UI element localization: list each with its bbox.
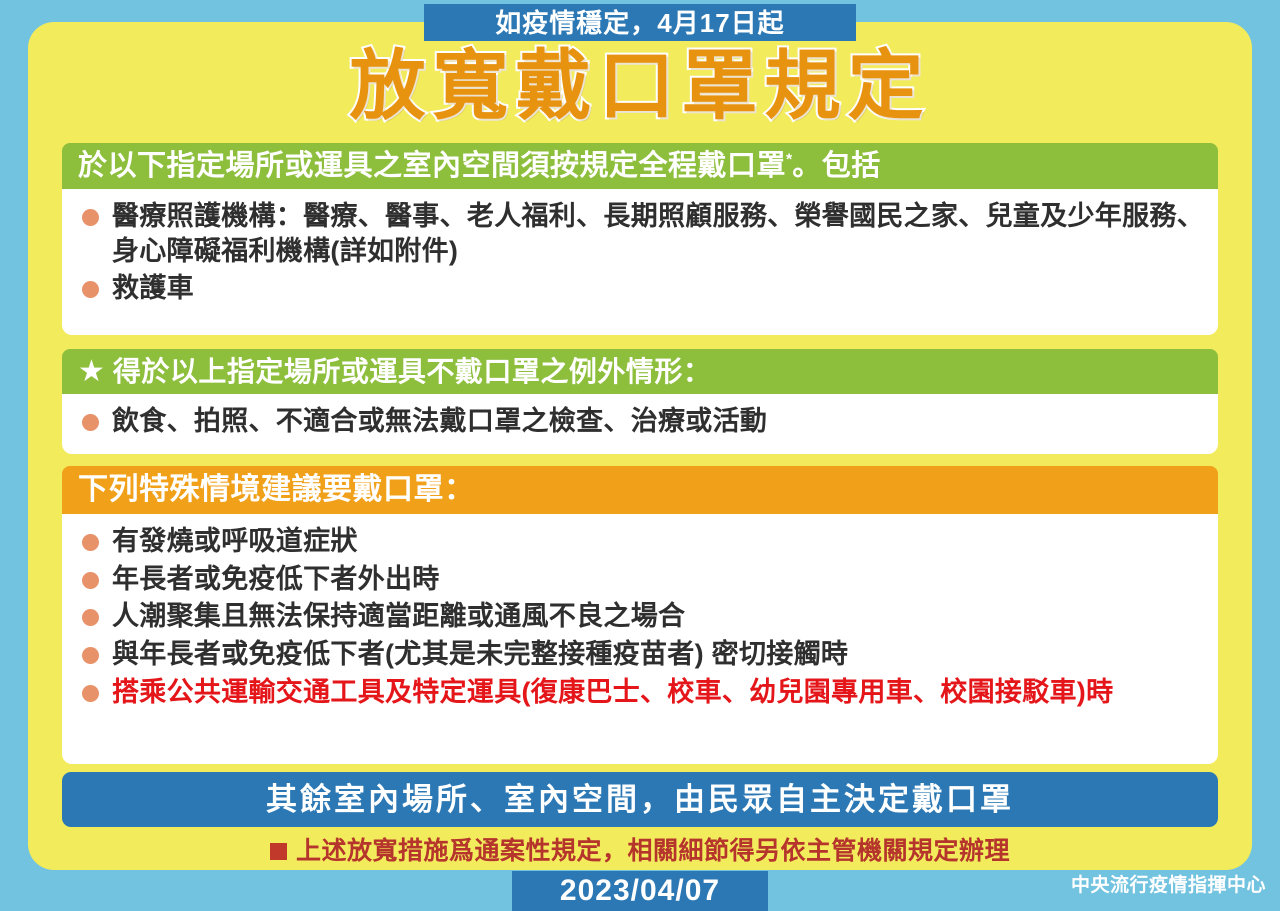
list-item: 救護車 <box>78 271 1204 306</box>
date-label: 2023/04/07 <box>560 876 720 906</box>
bullet-dot-icon <box>82 534 99 551</box>
section-panel-exceptions: 飲食、拍照、不適合或無法戴口罩之檢查、治療或活動 <box>62 394 1218 454</box>
bullet-dot-icon <box>82 647 99 664</box>
organization-credit: 中央流行疫情指揮中心 <box>1071 876 1266 895</box>
list-item-highlighted: 搭乘公共運輸交通工具及特定運具(復康巴士、校車、幼兒園專用車、校園接駁車)時 <box>78 675 1204 711</box>
list-item: 與年長者或免疫低下者(尤其是未完整接種疫苗者) 密切接觸時 <box>78 637 1204 673</box>
list-item: 飲食、拍照、不適合或無法戴口罩之檢查、治療或活動 <box>78 404 1204 439</box>
bullet-list-recommended-situations: 有發燒或呼吸道症狀 年長者或免疫低下者外出時 人潮聚集且無法保持適當距離或通風不… <box>78 524 1204 710</box>
top-ribbon-banner: 如疫情穩定，4月17日起 <box>424 4 856 41</box>
list-item: 醫療照護機構：醫療、醫事、老人福利、長期照顧服務、榮譽國民之家、兒童及少年服務、… <box>78 199 1204 269</box>
page-title: 放寬戴口罩規定 <box>0 44 1280 129</box>
conclusion-label: 其餘室內場所、室內空間，由民眾自主決定戴口罩 <box>266 784 1014 815</box>
square-bullet-icon <box>270 843 287 860</box>
ribbon-label: 如疫情穩定，4月17日起 <box>495 10 784 36</box>
section-header-indoor-mask-required: 於以下指定場所或運具之室內空間須按規定全程戴口罩*。包括 <box>62 143 1218 189</box>
section-header-label: 於以下指定場所或運具之室內空間須按規定全程戴口罩*。包括 <box>78 152 881 181</box>
bullet-dot-icon <box>82 414 99 431</box>
footnote: 上述放寬措施爲通案性規定，相關細節得另依主管機關規定辦理 <box>62 834 1218 868</box>
bullet-dot-icon <box>82 609 99 626</box>
bullet-dot-icon <box>82 281 99 298</box>
list-item-label: 人潮聚集且無法保持適當距離或通風不良之場合 <box>112 601 685 631</box>
list-item: 人潮聚集且無法保持適當距離或通風不良之場合 <box>78 599 1204 635</box>
page-title-text: 放寬戴口罩規定 <box>350 44 931 129</box>
list-item-label: 年長者或免疫低下者外出時 <box>112 564 440 594</box>
list-item-label: 飲食、拍照、不適合或無法戴口罩之檢查、治療或活動 <box>112 406 767 436</box>
bullet-list-indoor-mask-required: 醫療照護機構：醫療、醫事、老人福利、長期照顧服務、榮譽國民之家、兒童及少年服務、… <box>78 199 1204 306</box>
bullet-dot-icon <box>82 572 99 589</box>
bullet-dot-icon <box>82 209 99 226</box>
section-panel-recommended-situations: 有發燒或呼吸道症狀 年長者或免疫低下者外出時 人潮聚集且無法保持適當距離或通風不… <box>62 514 1218 764</box>
bullet-dot-icon <box>82 685 99 702</box>
list-item: 有發燒或呼吸道症狀 <box>78 524 1204 560</box>
section-header-recommended-situations: 下列特殊情境建議要戴口罩： <box>62 466 1218 514</box>
list-item-label: 有發燒或呼吸道症狀 <box>112 526 358 556</box>
date-badge: 2023/04/07 <box>512 871 768 911</box>
section-header-label: 下列特殊情境建議要戴口罩： <box>78 475 475 505</box>
conclusion-banner: 其餘室內場所、室內空間，由民眾自主決定戴口罩 <box>62 772 1218 827</box>
poster-root: 如疫情穩定，4月17日起 放寬戴口罩規定 於以下指定場所或運具之室內空間須按規定… <box>0 0 1280 905</box>
footnote-label: 上述放寬措施爲通案性規定，相關細節得另依主管機關規定辦理 <box>296 839 1010 864</box>
bullet-list-exceptions: 飲食、拍照、不適合或無法戴口罩之檢查、治療或活動 <box>78 404 1204 439</box>
list-item-label: 救護車 <box>112 273 194 303</box>
list-item-label: 搭乘公共運輸交通工具及特定運具(復康巴士、校車、幼兒園專用車、校園接駁車)時 <box>112 677 1113 707</box>
star-icon: ★ <box>78 357 105 387</box>
section-header-label: 得於以上指定場所或運具不戴口罩之例外情形： <box>113 358 712 386</box>
section-header-exceptions: ★ 得於以上指定場所或運具不戴口罩之例外情形： <box>62 349 1218 394</box>
section-panel-indoor-mask-required: 醫療照護機構：醫療、醫事、老人福利、長期照顧服務、榮譽國民之家、兒童及少年服務、… <box>62 189 1218 335</box>
list-item-label: 醫療照護機構：醫療、醫事、老人福利、長期照顧服務、榮譽國民之家、兒童及少年服務、… <box>112 201 1204 266</box>
list-item-label: 與年長者或免疫低下者(尤其是未完整接種疫苗者) 密切接觸時 <box>112 639 848 669</box>
list-item: 年長者或免疫低下者外出時 <box>78 562 1204 598</box>
